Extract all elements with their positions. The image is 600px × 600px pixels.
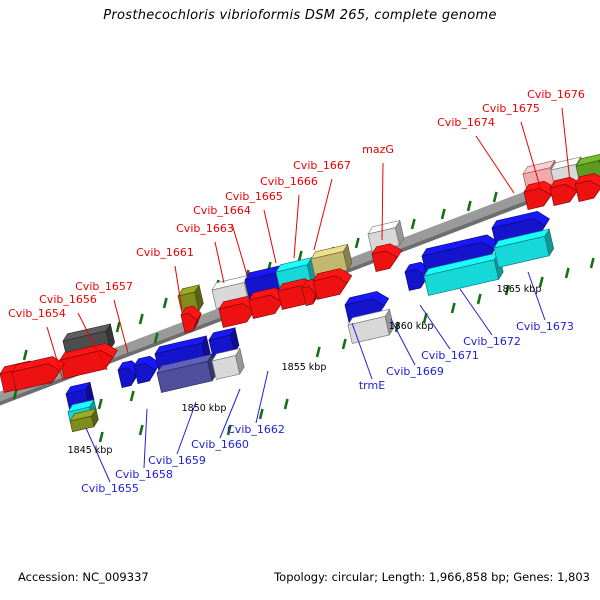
- feature-tick: [566, 268, 569, 278]
- feature-tick: [343, 339, 346, 349]
- gene-label[interactable]: Cvib_1663: [176, 222, 234, 235]
- gene-label[interactable]: Cvib_1661: [136, 246, 194, 259]
- gene-label[interactable]: Cvib_1676: [527, 88, 585, 101]
- leader-line: [294, 195, 299, 258]
- feature-tick: [494, 192, 497, 202]
- gene-label[interactable]: Cvib_1671: [421, 349, 479, 362]
- scale-tick-label: 1845 kbp: [68, 445, 113, 456]
- feature-tick: [452, 303, 455, 313]
- feature-tick: [140, 425, 143, 435]
- feature-tick: [442, 209, 445, 219]
- scale-tick-label: 1860 kbp: [389, 321, 434, 332]
- gene-label[interactable]: Cvib_1662: [227, 423, 285, 436]
- forward-strand-genes: [0, 153, 600, 392]
- feature-tick: [468, 201, 471, 211]
- feature-tick: [591, 258, 594, 268]
- gene-label[interactable]: Cvib_1665: [225, 190, 283, 203]
- gene-label[interactable]: Cvib_1664: [193, 204, 251, 217]
- feature-tick: [478, 294, 481, 304]
- feature-tick: [299, 251, 302, 261]
- gene-label[interactable]: Cvib_1675: [482, 102, 540, 115]
- leader-line: [232, 224, 247, 275]
- gene-label[interactable]: Cvib_1667: [293, 159, 351, 172]
- gene-label[interactable]: Cvib_1672: [463, 335, 521, 348]
- gene-label[interactable]: Cvib_1659: [148, 454, 206, 467]
- feature-tick: [140, 314, 143, 324]
- feature-tick: [412, 219, 415, 229]
- genome-map-canvas: Prosthecochloris vibrioformis DSM 265, c…: [0, 0, 600, 600]
- leader-line: [314, 179, 332, 250]
- feature-tick: [131, 391, 134, 401]
- scale-tick-label: 1855 kbp: [282, 362, 327, 373]
- feature-tick: [260, 409, 263, 419]
- feature-tick: [285, 399, 288, 409]
- accession-text: Accession: NC_009337: [18, 570, 149, 584]
- feature-tick: [317, 347, 320, 357]
- gene-label[interactable]: Cvib_1673: [516, 320, 574, 333]
- feature-tick: [356, 238, 359, 248]
- leader-line: [264, 210, 276, 263]
- leader-line: [144, 409, 147, 468]
- gene-label[interactable]: Cvib_1669: [386, 365, 444, 378]
- gene-label[interactable]: Cvib_1658: [115, 468, 173, 481]
- gene-label[interactable]: Cvib_1656: [39, 293, 97, 306]
- gene-label[interactable]: trmE: [359, 379, 385, 392]
- gene-label[interactable]: Cvib_1654: [8, 307, 66, 320]
- status-bar: Accession: NC_009337 Topology: circular;…: [0, 570, 600, 586]
- genome-diagram: Cvib_1654Cvib_1656Cvib_1657Cvib_1661Cvib…: [0, 0, 600, 600]
- feature-tick: [24, 350, 27, 360]
- leader-line: [175, 266, 182, 310]
- gene-label[interactable]: Cvib_1660: [191, 438, 249, 451]
- scale-tick-label: 1865 kbp: [497, 284, 542, 295]
- feature-tick: [164, 298, 167, 308]
- feature-tick: [99, 399, 102, 409]
- gene-label[interactable]: mazG: [362, 143, 394, 156]
- feature-tick: [117, 322, 120, 332]
- leader-line: [114, 300, 128, 353]
- leader-line: [476, 136, 514, 193]
- gene-label[interactable]: Cvib_1674: [437, 116, 495, 129]
- gene-label[interactable]: Cvib_1666: [260, 175, 318, 188]
- leader-line: [460, 289, 492, 335]
- leader-line: [215, 242, 224, 283]
- gene-label[interactable]: Cvib_1657: [75, 280, 133, 293]
- gene-label[interactable]: Cvib_1655: [81, 482, 139, 495]
- feature-tick: [100, 432, 103, 442]
- scale-tick-label: 1850 kbp: [182, 403, 227, 414]
- topology-text: Topology: circular; Length: 1,966,858 bp…: [274, 570, 590, 584]
